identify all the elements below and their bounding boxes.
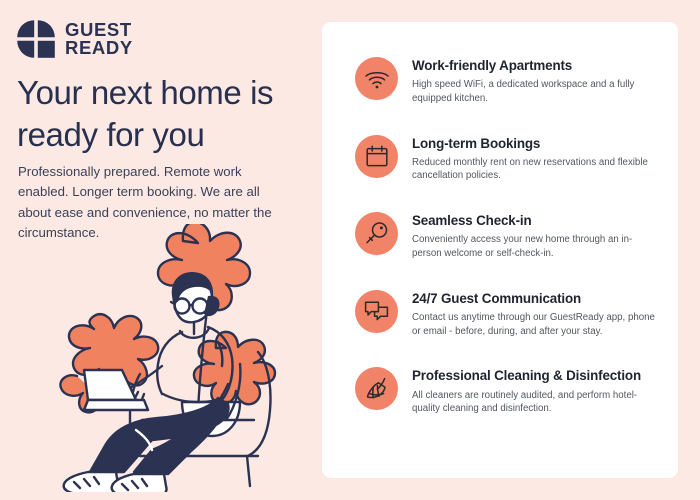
brand-wordmark: GUEST READY — [65, 21, 133, 57]
feature-title: Long-term Bookings — [412, 136, 660, 152]
brand-logo[interactable]: GUEST READY — [16, 19, 133, 59]
broom-icon — [364, 376, 389, 401]
feature-item-cleaning-disinfection[interactable]: Professional Cleaning & Disinfection All… — [355, 365, 660, 416]
chat-bubbles-icon-badge — [355, 290, 398, 333]
key-icon — [364, 221, 389, 246]
wifi-icon — [364, 68, 390, 90]
feature-text: Seamless Check-in Conveniently access yo… — [412, 210, 660, 261]
feature-title: 24/7 Guest Communication — [412, 291, 660, 307]
wifi-icon-badge — [355, 57, 398, 100]
calendar-icon — [365, 144, 389, 168]
feature-description: Conveniently access your new home throug… — [412, 233, 658, 261]
hero-column: GUEST READY Your next home is ready for … — [0, 0, 320, 500]
feature-item-guest-communication[interactable]: 24/7 Guest Communication Contact us anyt… — [355, 288, 660, 339]
key-icon-badge — [355, 212, 398, 255]
feature-item-seamless-check-in[interactable]: Seamless Check-in Conveniently access yo… — [355, 210, 660, 261]
calendar-icon-badge — [355, 135, 398, 178]
feature-list: Work-friendly Apartments High speed WiFi… — [322, 22, 678, 416]
feature-text: Long-term Bookings Reduced monthly rent … — [412, 133, 660, 184]
feature-description: High speed WiFi, a dedicated workspace a… — [412, 78, 658, 106]
hero-illustration — [22, 224, 314, 492]
feature-item-long-term-bookings[interactable]: Long-term Bookings Reduced monthly rent … — [355, 133, 660, 184]
chat-bubbles-icon — [364, 300, 389, 323]
broom-icon-badge — [355, 367, 398, 410]
feature-item-work-friendly-apartments[interactable]: Work-friendly Apartments High speed WiFi… — [355, 55, 660, 106]
feature-title: Work-friendly Apartments — [412, 58, 660, 74]
feature-title: Seamless Check-in — [412, 213, 660, 229]
features-card: Work-friendly Apartments High speed WiFi… — [322, 22, 678, 478]
brand-line-2: READY — [65, 39, 133, 57]
feature-description: Reduced monthly rent on new reservations… — [412, 156, 658, 184]
guestready-squares-logo-icon — [16, 19, 56, 59]
feature-text: Professional Cleaning & Disinfection All… — [412, 365, 660, 416]
feature-text: Work-friendly Apartments High speed WiFi… — [412, 55, 660, 106]
feature-text: 24/7 Guest Communication Contact us anyt… — [412, 288, 660, 339]
feature-description: Contact us anytime through our GuestRead… — [412, 311, 658, 339]
page-title: Your next home is ready for you — [17, 72, 317, 155]
feature-description: All cleaners are routinely audited, and … — [412, 389, 658, 417]
feature-title: Professional Cleaning & Disinfection — [412, 368, 660, 384]
